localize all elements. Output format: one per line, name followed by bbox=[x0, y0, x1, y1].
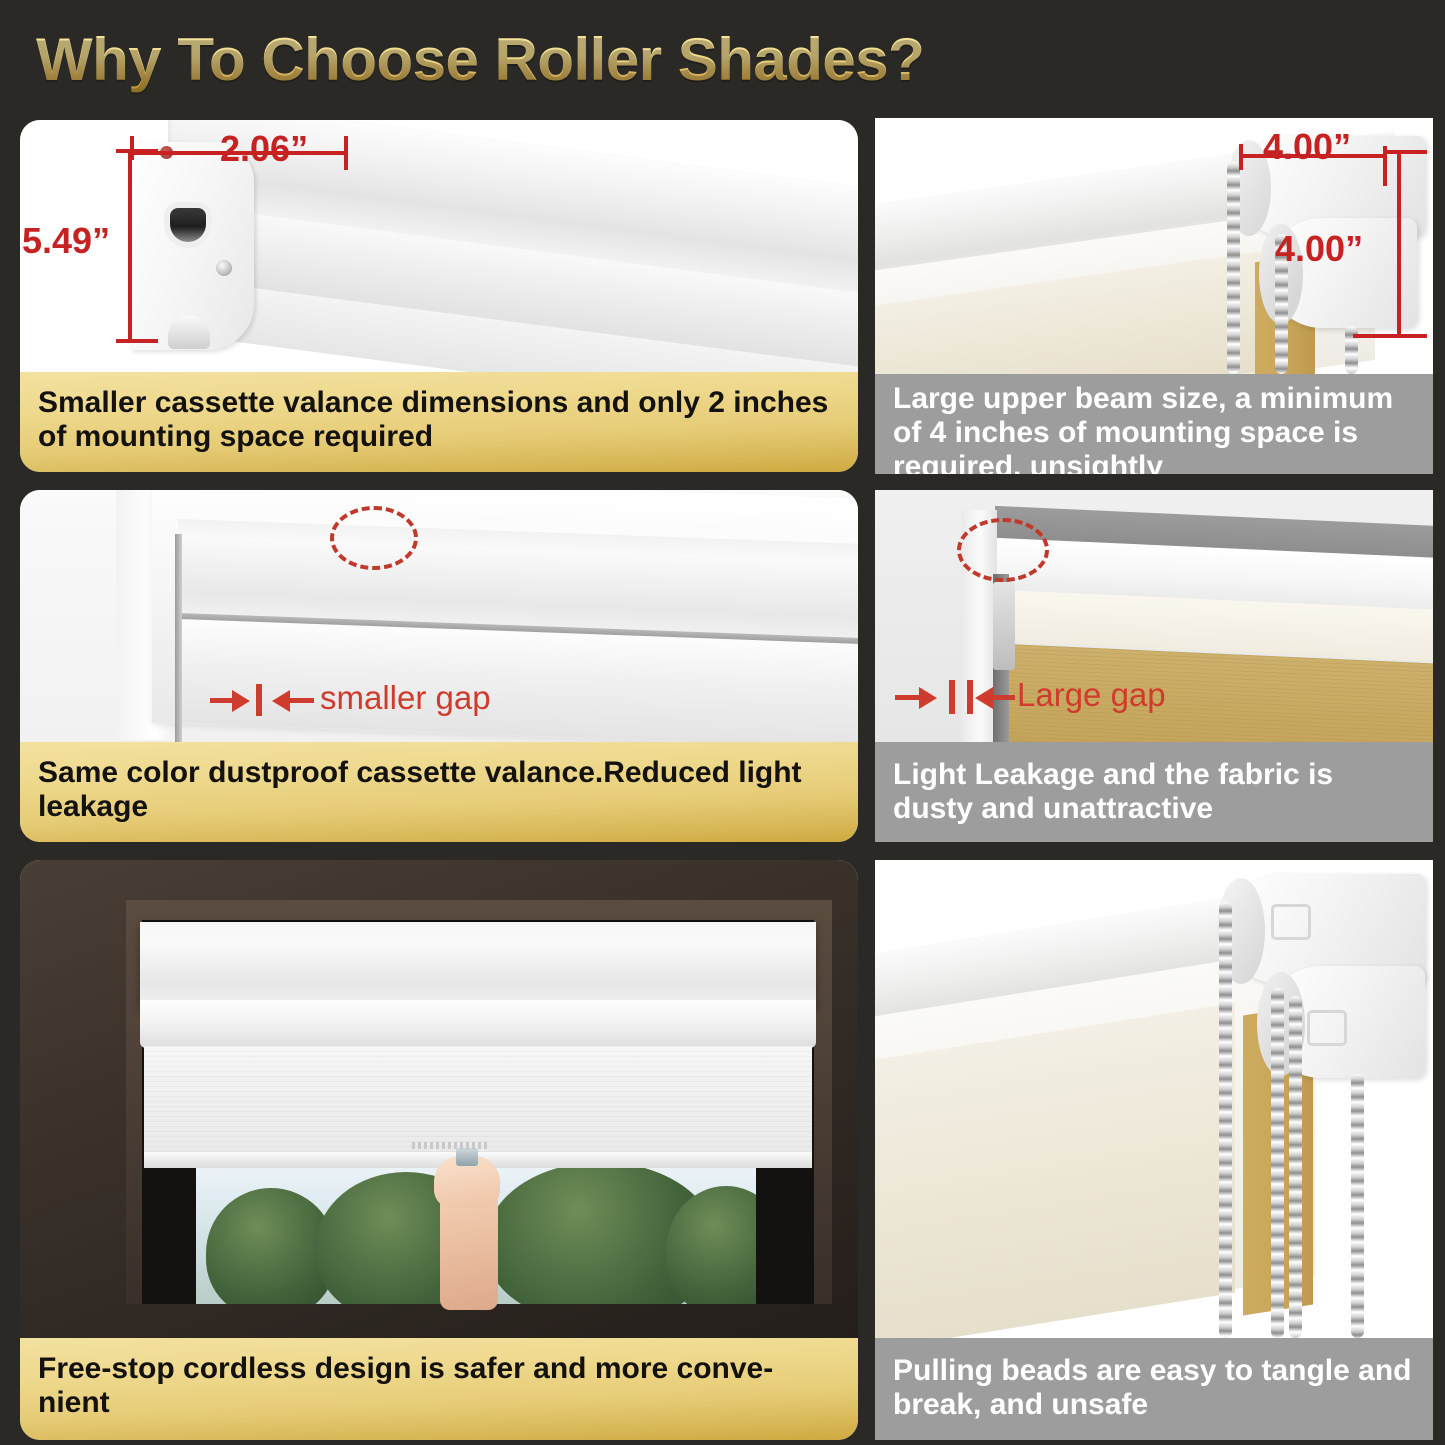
caption-free-stop-cordless: Free-stop cordless design is safer and m… bbox=[20, 1338, 858, 1440]
bead-chain-left bbox=[1219, 902, 1232, 1338]
caption-line-2: nient bbox=[38, 1386, 110, 1419]
large-gap-arrow-left-icon bbox=[975, 687, 993, 709]
photo-cordless-window bbox=[20, 860, 858, 1338]
bead-chain-middle-2 bbox=[1289, 996, 1302, 1338]
large-gap-measure-bar-1 bbox=[949, 680, 955, 714]
photo-light-leakage: Large gap bbox=[875, 490, 1433, 742]
bead-chain-1 bbox=[1227, 162, 1240, 374]
measurement-label-beam-height: 4.00” bbox=[1275, 228, 1363, 270]
gap-arrow-stem-left bbox=[210, 698, 234, 703]
dimension-tick-width-right bbox=[344, 136, 348, 170]
caption-large-upper-beam: Large upper beam size, a minimum of 4 in… bbox=[875, 374, 1433, 474]
photo-pulling-beads bbox=[875, 860, 1433, 1338]
large-gap-measure-bar-2 bbox=[967, 680, 973, 714]
caption-dustproof-cassette-valance: Same color dustproof cassette valance.Re… bbox=[20, 742, 858, 842]
dimension-tick-height-bottom bbox=[116, 339, 158, 343]
panel-pulling-beads: Pulling beads are easy to tangle and bre… bbox=[875, 860, 1433, 1440]
page-title: Why To Choose Roller Shades? bbox=[36, 20, 1416, 98]
photo-large-upper-beam: 4.00” 4.00” bbox=[875, 118, 1433, 374]
shade-fabric-cream-bottom bbox=[875, 1003, 1235, 1338]
annotation-smaller-gap: smaller gap bbox=[320, 679, 491, 717]
photo-cassette-valance: 2.06” 5.49” bbox=[20, 120, 858, 372]
comparison-grid: 2.06” 5.49” Smaller cassette valance dim… bbox=[0, 112, 1445, 1445]
caption-light-leakage: Light Leakage and the fabric is dusty an… bbox=[875, 742, 1433, 842]
dimension-line-beam-height bbox=[1397, 152, 1401, 338]
gap-arrow-right-icon bbox=[232, 690, 250, 712]
photo-dustproof-valance: smaller gap bbox=[20, 490, 858, 742]
large-gap-arrow-right-icon bbox=[919, 687, 937, 709]
measurement-label-beam-width: 4.00” bbox=[1263, 126, 1351, 168]
page-title-text: Why To Choose Roller Shades? bbox=[36, 25, 924, 94]
panel-dustproof-cassette-valance: smaller gap Same color dustproof cassett… bbox=[20, 490, 858, 842]
dimension-tick-height-top bbox=[116, 149, 158, 153]
dimension-tick-beam-width-left bbox=[1239, 144, 1243, 170]
caption-line-1: Free-stop cordless design is safer and m… bbox=[38, 1352, 773, 1385]
measurement-label-height: 5.49” bbox=[22, 220, 110, 262]
caption-cassette-valance-dimensions: Smaller cassette valance dimensions and … bbox=[20, 372, 858, 472]
highlight-circle-gap bbox=[330, 506, 418, 570]
gap-arrow-stem-right bbox=[290, 698, 314, 703]
gap-measure-bar bbox=[256, 684, 262, 716]
dimension-tick-beam-height-top bbox=[1383, 150, 1427, 154]
panel-light-leakage: Large gap Light Leakage and the fabric i… bbox=[875, 490, 1433, 842]
highlight-circle-large-gap bbox=[957, 518, 1049, 582]
large-gap-arrow-stem-left bbox=[895, 695, 921, 700]
caption-pulling-beads: Pulling beads are easy to tangle and bre… bbox=[875, 1338, 1433, 1440]
measurement-label-width: 2.06” bbox=[220, 128, 308, 170]
annotation-large-gap: Large gap bbox=[1017, 676, 1166, 714]
bead-chain-middle bbox=[1271, 988, 1284, 1338]
large-gap-arrow-stem-right bbox=[993, 695, 1015, 700]
bead-chain-right bbox=[1351, 1074, 1364, 1338]
panel-free-stop-cordless: Free-stop cordless design is safer and m… bbox=[20, 860, 858, 1440]
dimension-tick-beam-height-bottom bbox=[1353, 334, 1427, 338]
pull-tab bbox=[456, 1148, 478, 1166]
panel-cassette-valance-dimensions: 2.06” 5.49” Smaller cassette valance dim… bbox=[20, 120, 858, 472]
gap-arrow-left-icon bbox=[272, 690, 290, 712]
dimension-line-height bbox=[128, 151, 132, 343]
panel-large-upper-beam: 4.00” 4.00” Large upper beam size, a min… bbox=[875, 118, 1433, 474]
